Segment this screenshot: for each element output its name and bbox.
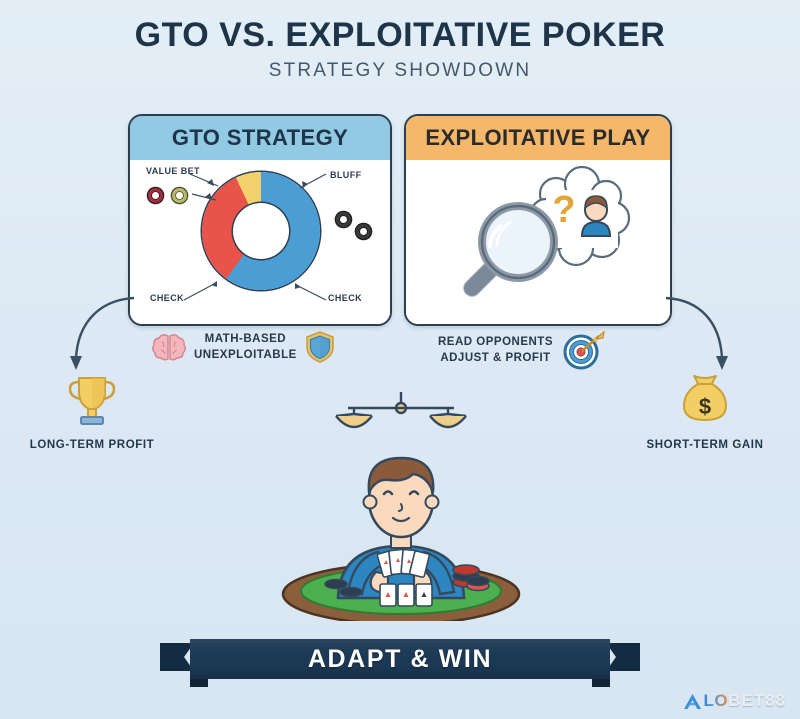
donut-label-value-bet: VALUE BET xyxy=(146,166,200,176)
infographic-root: GTO VS. EXPLOITATIVE POKER STRATEGY SHOW… xyxy=(0,0,800,719)
panel-exploitative-title: EXPLOITATIVE PLAY xyxy=(406,116,670,160)
brain-icon xyxy=(152,332,186,362)
feature-exploitative: READ OPPONENTS ADJUST & PROFIT xyxy=(438,330,605,370)
logo-text-secondary: BET88 xyxy=(728,691,786,711)
donut-label-check-left: CHECK xyxy=(150,293,184,303)
target-icon xyxy=(561,330,605,370)
outcome-left-label: LONG-TERM PROFIT xyxy=(7,439,177,451)
feature-exploitative-line2: ADJUST & PROFIT xyxy=(438,350,553,366)
alobet-triangle-icon xyxy=(683,693,702,710)
poker-chip-icon-green xyxy=(172,188,187,203)
trophy-icon xyxy=(61,372,123,430)
svg-text:$: $ xyxy=(699,394,711,419)
poker-chip-icon-dark-1 xyxy=(336,212,351,227)
panel-gto-body: VALUE BET BLUFF CHECK CHECK xyxy=(130,160,390,324)
magnifier-thought-bubble-icon: ? xyxy=(406,160,670,324)
banner-text: ADAPT & WIN xyxy=(160,639,640,679)
feature-exploitative-text: READ OPPONENTS ADJUST & PROFIT xyxy=(438,334,553,366)
brand-logo[interactable]: LO BET88 xyxy=(683,691,786,711)
poker-chip-icon-dark-2 xyxy=(356,224,371,239)
banner-adapt-and-win: ADAPT & WIN xyxy=(160,639,640,687)
feature-gto-line2: UNEXPLOITABLE xyxy=(194,347,297,363)
feature-exploitative-line1: READ OPPONENTS xyxy=(438,334,553,350)
outcome-long-term-profit: LONG-TERM PROFIT xyxy=(7,372,177,451)
panel-gto-title: GTO STRATEGY xyxy=(130,116,390,160)
arrow-exploitative-to-outcome xyxy=(660,292,740,382)
money-bag-icon: $ xyxy=(676,372,734,430)
page-header: GTO VS. EXPLOITATIVE POKER STRATEGY SHOW… xyxy=(0,14,800,84)
feature-gto: MATH-BASED UNEXPLOITABLE xyxy=(152,330,335,364)
panel-exploitative-play: EXPLOITATIVE PLAY ? xyxy=(404,114,672,326)
center-scene xyxy=(276,386,526,621)
panel-gto-strategy: GTO STRATEGY VALUE BET BLUFF xyxy=(128,114,392,326)
balance-scale-icon xyxy=(336,392,466,427)
page-title: GTO VS. EXPLOITATIVE POKER xyxy=(0,14,800,56)
panel-exploitative-body: ? xyxy=(406,160,670,324)
logo-text-primary: LO xyxy=(703,691,728,711)
arrow-gto-to-outcome xyxy=(60,292,140,382)
svg-text:?: ? xyxy=(552,189,575,231)
feature-gto-line1: MATH-BASED xyxy=(194,331,297,347)
poker-chip-icon-red xyxy=(148,188,163,203)
outcome-right-label: SHORT-TERM GAIN xyxy=(620,439,790,451)
shield-icon xyxy=(305,330,335,364)
donut-label-bluff: BLUFF xyxy=(330,170,362,180)
outcome-short-term-gain: $ SHORT-TERM GAIN xyxy=(620,372,790,451)
donut-label-check-right: CHECK xyxy=(328,293,362,303)
page-subtitle: STRATEGY SHOWDOWN xyxy=(0,58,800,84)
feature-gto-text: MATH-BASED UNEXPLOITABLE xyxy=(194,331,297,363)
